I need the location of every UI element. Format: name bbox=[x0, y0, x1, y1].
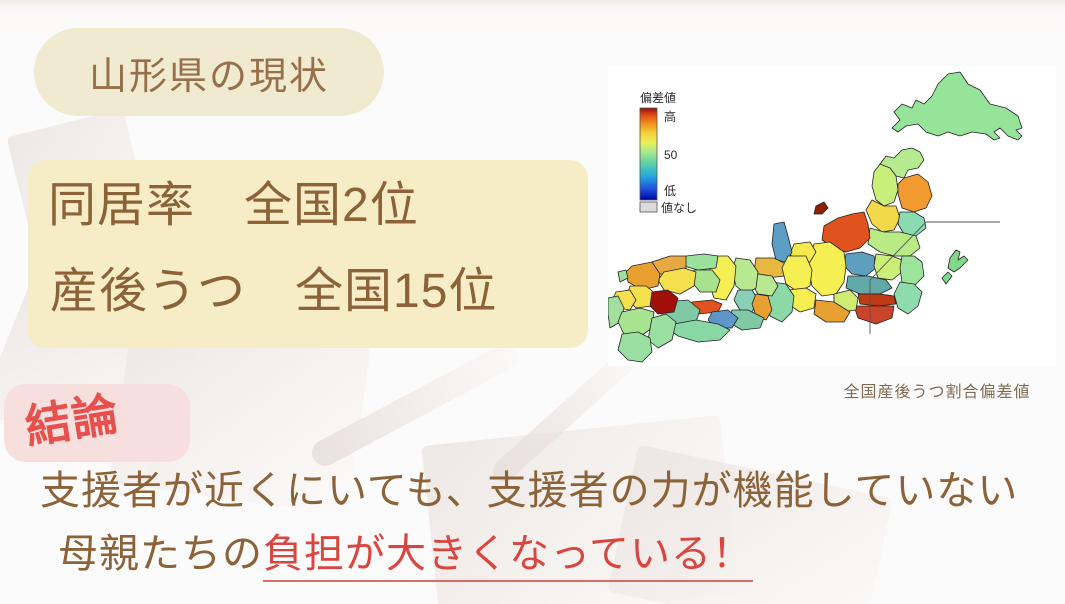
conclusion-line-2: 母親たちの負担が大きくなっている！ bbox=[58, 521, 753, 579]
legend-title: 偏差値 bbox=[640, 90, 676, 105]
conclusion-line-1: 支援者が近くにいても、支援者の力が機能していない bbox=[40, 458, 1018, 516]
title-pill: 山形県の現状 bbox=[34, 28, 384, 116]
prefecture-tottori bbox=[684, 254, 718, 270]
legend-nodata-label: 値なし bbox=[661, 200, 697, 215]
japan-choropleth-map: 偏差値 高 50 低 値なし bbox=[608, 66, 1056, 366]
conclusion-badge: 結論 bbox=[4, 384, 190, 462]
stat-line-ppd-rank: 産後うつ 全国15位 bbox=[50, 268, 570, 316]
legend-colorbar bbox=[640, 108, 657, 200]
stats-box: 同居率 全国2位 産後うつ 全国15位 bbox=[28, 160, 588, 348]
slide-root: 山形県の現状 同居率 全国2位 産後うつ 全国15位 bbox=[0, 0, 1065, 604]
conclusion-badge-label: 結論 bbox=[20, 377, 123, 457]
legend-high-label: 高 bbox=[664, 109, 676, 124]
conclusion-line-2-plain: 母親たちの bbox=[58, 532, 263, 576]
conclusion-line-2-highlight: 負担が大きくなっている！ bbox=[263, 532, 753, 582]
prefecture-tokyo bbox=[858, 294, 896, 306]
page-title: 山形県の現状 bbox=[89, 45, 329, 100]
legend-mid-label: 50 bbox=[664, 148, 678, 162]
map-caption: 全国産後うつ割合偏差値 bbox=[818, 378, 1056, 402]
legend-low-label: 低 bbox=[664, 184, 676, 198]
stat-line-cohabitation-rank: 同居率 全国2位 bbox=[48, 182, 570, 230]
legend-nodata-swatch bbox=[640, 202, 657, 212]
